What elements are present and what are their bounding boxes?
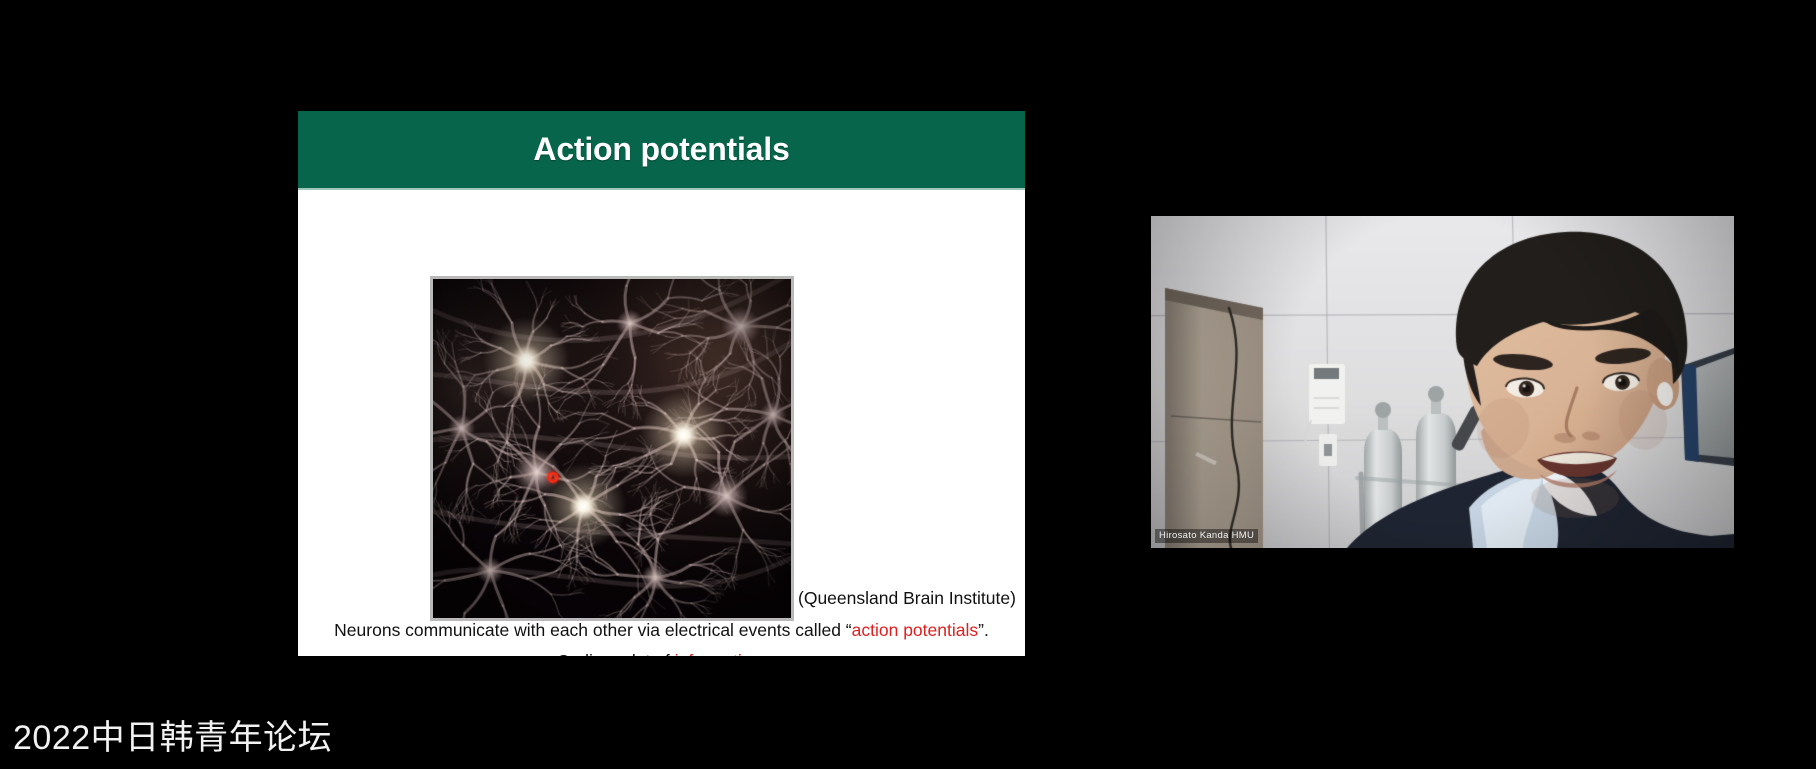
participant-name-label: Hirosato Kanda HMU xyxy=(1155,529,1258,543)
accent-term: action potentials xyxy=(852,620,978,640)
event-title-label: 2022中日韩青年论坛 xyxy=(13,710,332,759)
body-text: Coding a lot of xyxy=(557,651,675,656)
slide-body: (Queensland Brain Institute) Neurons com… xyxy=(298,190,1025,656)
body-text: ”. xyxy=(978,620,989,640)
slide-body-line-1: Neurons communicate with each other via … xyxy=(298,620,1025,641)
slide-header-bar: Action potentials xyxy=(298,111,1025,188)
video-feed-canvas xyxy=(1151,216,1734,548)
slide-title: Action potentials xyxy=(533,131,789,168)
participant-video-tile[interactable]: Hirosato Kanda HMU xyxy=(1151,216,1734,548)
body-text: . xyxy=(761,651,766,656)
neuron-network-illustration xyxy=(430,276,794,621)
shared-screen-slide[interactable]: Action potentials (Queensland Brain Inst… xyxy=(298,111,1025,656)
accent-term: information xyxy=(675,651,762,656)
body-text: Neurons communicate with each other via … xyxy=(334,620,851,640)
slide-body-line-2: Coding a lot of information. xyxy=(298,651,1025,656)
figure-credit-label: (Queensland Brain Institute) xyxy=(798,588,1016,609)
neuron-illustration-canvas xyxy=(433,279,791,618)
